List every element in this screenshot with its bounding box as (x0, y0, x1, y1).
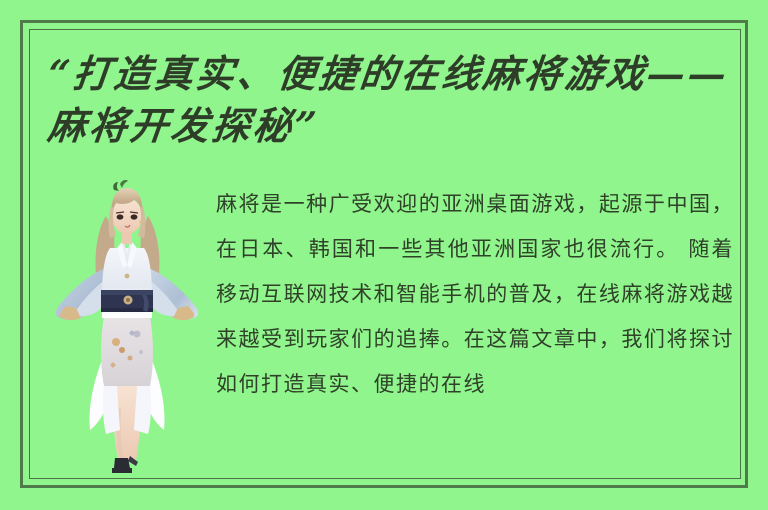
skirt-icon (101, 316, 153, 386)
hair-ornament-icon (113, 182, 119, 191)
pendant-icon (125, 274, 130, 279)
obi-belt-icon (101, 290, 153, 312)
page-title: “打造真实、便捷的在线麻将游戏—— 麻将开发探秘” (48, 48, 748, 152)
article-paragraph: 麻将是一种广受欢迎的亚洲桌面游戏，起源于中国，在日本、韩国和一些其他亚洲国家也很… (216, 182, 734, 407)
title-line-2: 麻将开发探秘” (45, 100, 750, 152)
anime-woman-figure-icon (44, 172, 210, 478)
character-illustration (44, 172, 210, 478)
poster-canvas: “打造真实、便捷的在线麻将游戏—— 麻将开发探秘” (0, 0, 768, 510)
title-line-1: “打造真实、便捷的在线麻将游戏—— (45, 48, 750, 100)
head-icon (109, 180, 146, 238)
article-body: 麻将是一种广受欢迎的亚洲桌面游戏，起源于中国，在日本、韩国和一些其他亚洲国家也很… (216, 182, 734, 477)
